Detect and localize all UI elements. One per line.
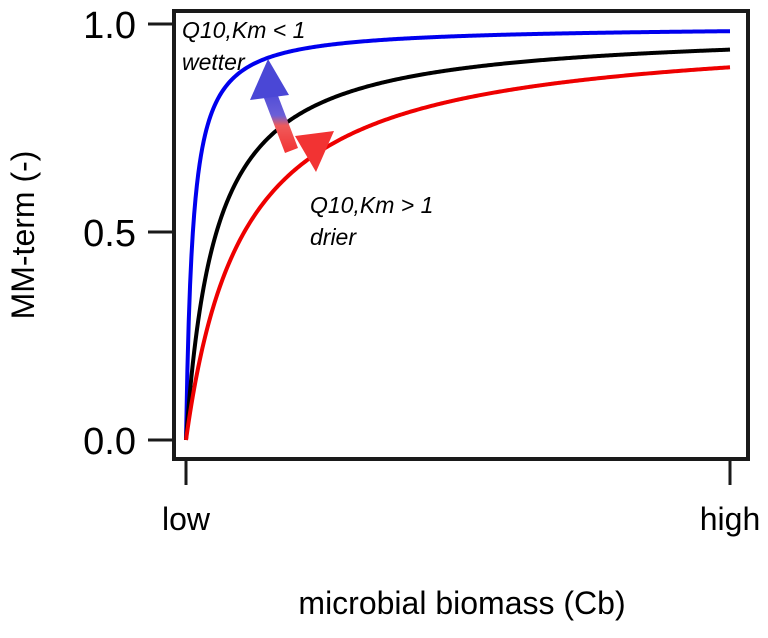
annotation-drier-line1: Q10,Km > 1 (310, 192, 433, 218)
x-axis-title: microbial biomass (Cb) (298, 585, 625, 621)
mm-term-plot: 1.0 0.5 0.0 low high Q10, (0, 0, 768, 638)
x-axis-ticks (186, 459, 730, 485)
annotation-drier-line2: drier (310, 224, 357, 250)
y-axis-ticks (148, 24, 174, 440)
annotation-wetter-line1: Q10,Km < 1 (182, 17, 305, 43)
x-tick-label-high: high (700, 501, 761, 537)
y-tick-label-0.0: 0.0 (83, 421, 136, 463)
chart-figure: 1.0 0.5 0.0 low high Q10, (0, 0, 768, 638)
annotation-wetter-line2: wetter (182, 49, 246, 75)
y-tick-label-1.0: 1.0 (83, 5, 136, 47)
y-tick-label-0.5: 0.5 (83, 213, 136, 255)
y-axis-title: MM-term (-) (5, 151, 41, 320)
x-tick-label-low: low (162, 501, 211, 537)
